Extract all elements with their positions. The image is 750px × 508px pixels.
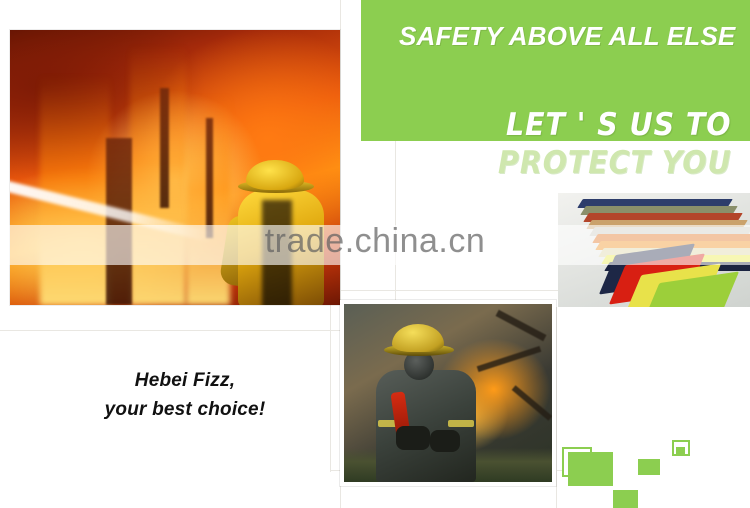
- banner-canvas: SAFETY ABOVE ALL ELSE LET ' S US TO PROT…: [0, 0, 750, 508]
- hi-vis-stripe: [448, 420, 474, 427]
- tagline-line-2: your best choice!: [60, 395, 310, 424]
- headline-text: SAFETY ABOVE ALL ELSE: [399, 20, 744, 53]
- photo-fabric-swatches: [558, 193, 750, 307]
- slogan-line-1: LET ' S US TO: [506, 107, 731, 143]
- photo-firefighter-mask: [340, 300, 556, 486]
- guide-line-vertical: [556, 307, 557, 508]
- firefighter-glove: [430, 430, 460, 452]
- guide-line-vertical: [395, 141, 396, 321]
- firefighter-glove: [396, 426, 430, 450]
- guide-line-horizontal: [0, 330, 340, 331]
- flame-column: [130, 45, 186, 305]
- decor-square: [676, 447, 685, 454]
- decor-square: [568, 452, 613, 486]
- decor-square: [613, 490, 638, 508]
- burning-structure: [206, 118, 213, 238]
- flame-column: [40, 75, 110, 305]
- firefighter-gear-shadow: [262, 200, 292, 305]
- guide-line-vertical: [330, 290, 331, 472]
- burning-structure: [160, 88, 169, 208]
- slogan-line-2: PROTECT YOU: [498, 145, 732, 181]
- guide-line-horizontal: [330, 290, 560, 291]
- decor-square: [638, 459, 660, 475]
- tagline: Hebei Fizz, your best choice!: [60, 366, 310, 425]
- tagline-line-1: Hebei Fizz,: [60, 366, 310, 395]
- photo-fire-with-firefighter: [10, 30, 340, 305]
